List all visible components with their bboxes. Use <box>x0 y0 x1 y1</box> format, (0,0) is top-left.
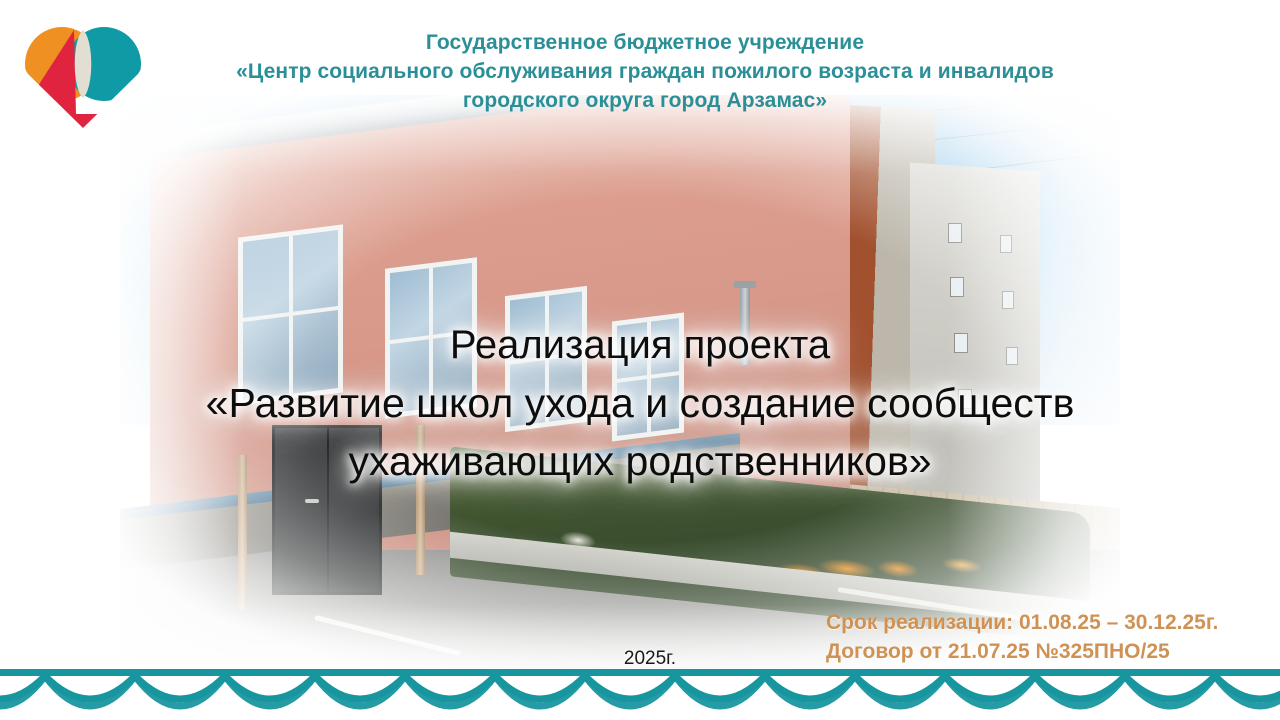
org-header-line-1: Государственное бюджетное учреждение <box>180 28 1110 57</box>
apartment-window <box>950 277 964 297</box>
org-header-line-3: городского округа город Арзамас» <box>180 86 1110 115</box>
contract-number: Договор от 21.07.25 №325ПНО/25 <box>826 637 1218 666</box>
organization-header: Государственное бюджетное учреждение «Це… <box>180 28 1110 115</box>
chimney-cap <box>734 281 756 288</box>
apartment-window <box>1002 291 1014 309</box>
title-line-3: ухаживающих родственников» <box>60 432 1220 490</box>
implementation-term: Срок реализации: 01.08.25 – 30.12.25г. <box>826 608 1218 637</box>
scalloped-swag-border <box>0 665 1280 720</box>
project-info-block: Срок реализации: 01.08.25 – 30.12.25г. Д… <box>826 608 1218 666</box>
apartment-window <box>1000 235 1012 253</box>
org-header-line-2: «Центр социального обслуживания граждан … <box>180 57 1110 86</box>
presentation-slide: Государственное бюджетное учреждение «Це… <box>0 0 1280 720</box>
apartment-window <box>948 223 962 243</box>
heart-logo <box>18 18 148 130</box>
title-line-2: «Развитие школ ухода и создание сообщест… <box>60 374 1220 432</box>
door-handle <box>305 499 319 503</box>
slide-title: Реализация проекта «Развитие школ ухода … <box>60 316 1220 490</box>
title-line-1: Реализация проекта <box>60 316 1220 374</box>
